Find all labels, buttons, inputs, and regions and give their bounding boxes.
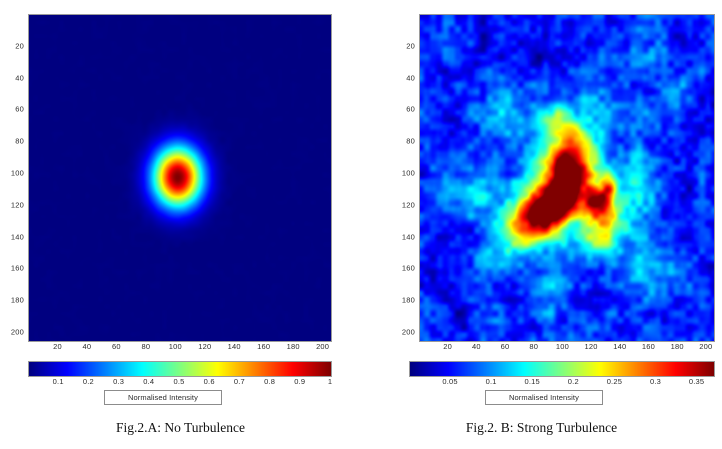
x-axis-tick-label: 20 (443, 342, 452, 351)
y-axis-tick-label: 160 (11, 264, 24, 273)
x-axis-tick-label: 40 (472, 342, 481, 351)
heatmap-panel-a (28, 14, 332, 342)
y-axis-tick-label: 20 (406, 41, 415, 50)
colorbar-tick-label: 0.9 (294, 377, 305, 386)
y-axis-tick-label: 180 (11, 296, 24, 305)
x-axis-b: 20406080100120140160180200 (419, 342, 713, 353)
colorbar-tick-label: 0.8 (264, 377, 275, 386)
y-axis-tick-label: 100 (11, 169, 24, 178)
x-axis-tick-label: 180 (287, 342, 300, 351)
colorbar-canvas-a (29, 362, 331, 376)
x-axis-tick-label: 200 (316, 342, 329, 351)
x-axis-tick-label: 180 (671, 342, 684, 351)
y-axis-tick-label: 120 (11, 200, 24, 209)
y-axis-tick-label: 200 (402, 328, 415, 337)
x-axis-tick-label: 80 (529, 342, 538, 351)
figure-root: 20406080100120140160180200 2040608010012… (0, 0, 722, 449)
colorbar-tick-label: 0.05 (442, 377, 457, 386)
y-axis-tick-label: 100 (402, 169, 415, 178)
colorbar-canvas-b (410, 362, 714, 376)
heatmap-canvas-b (420, 15, 714, 341)
figure-panel-a: 20406080100120140160180200 2040608010012… (0, 0, 361, 449)
colorbar-tick-label: 1 (328, 377, 332, 386)
x-axis-tick-label: 140 (228, 342, 241, 351)
y-axis-tick-label: 80 (406, 137, 415, 146)
colorbar-tick-label: 0.35 (689, 377, 704, 386)
y-axis-tick-label: 60 (406, 105, 415, 114)
x-axis-tick-label: 40 (83, 342, 92, 351)
figure-panel-b: 20406080100120140160180200 2040608010012… (361, 0, 722, 449)
x-axis-tick-label: 140 (613, 342, 626, 351)
colorbar-label-b: Normalised Intensity (485, 390, 603, 405)
y-axis-tick-label: 120 (402, 200, 415, 209)
colorbar-tick-label: 0.7 (234, 377, 245, 386)
colorbar-tick-label: 0.1 (53, 377, 64, 386)
y-axis-tick-label: 180 (402, 296, 415, 305)
y-axis-a: 20406080100120140160180200 (2, 14, 24, 340)
y-axis-b: 20406080100120140160180200 (393, 14, 415, 340)
heatmap-panel-b (419, 14, 715, 342)
colorbar-tick-label: 0.3 (113, 377, 124, 386)
colorbar-tick-label: 0.1 (486, 377, 497, 386)
x-axis-tick-label: 100 (556, 342, 569, 351)
heatmap-canvas-a (29, 15, 331, 341)
y-axis-tick-label: 60 (15, 105, 24, 114)
y-axis-tick-label: 200 (11, 328, 24, 337)
caption-panel-b: Fig.2. B: Strong Turbulence (361, 420, 722, 436)
colorbar-tick-label: 0.25 (607, 377, 622, 386)
x-axis-tick-label: 100 (169, 342, 182, 351)
colorbar-tick-label: 0.15 (525, 377, 540, 386)
x-axis-tick-label: 60 (112, 342, 121, 351)
y-axis-tick-label: 80 (15, 137, 24, 146)
y-axis-tick-label: 40 (406, 73, 415, 82)
colorbar-tick-label: 0.2 (568, 377, 579, 386)
y-axis-tick-label: 160 (402, 264, 415, 273)
colorbar-tick-label: 0.3 (650, 377, 661, 386)
colorbar-label-a: Normalised Intensity (104, 390, 222, 405)
colorbar-tick-label: 0.6 (204, 377, 215, 386)
y-axis-tick-label: 40 (15, 73, 24, 82)
x-axis-tick-label: 120 (198, 342, 211, 351)
x-axis-tick-label: 20 (53, 342, 62, 351)
x-axis-tick-label: 160 (257, 342, 270, 351)
x-axis-a: 20406080100120140160180200 (28, 342, 330, 353)
colorbar-tick-label: 0.2 (83, 377, 94, 386)
colorbar-panel-b (409, 361, 715, 377)
y-axis-tick-label: 140 (11, 232, 24, 241)
x-axis-tick-label: 160 (642, 342, 655, 351)
x-axis-tick-label: 80 (141, 342, 150, 351)
x-axis-tick-label: 120 (585, 342, 598, 351)
y-axis-tick-label: 140 (402, 232, 415, 241)
y-axis-tick-label: 20 (15, 41, 24, 50)
colorbar-tick-label: 0.5 (173, 377, 184, 386)
x-axis-tick-label: 200 (699, 342, 712, 351)
caption-panel-a: Fig.2.A: No Turbulence (0, 420, 361, 436)
colorbar-panel-a (28, 361, 332, 377)
colorbar-ticks-a: 0.10.20.30.40.50.60.70.80.91 (28, 377, 330, 388)
colorbar-tick-label: 0.4 (143, 377, 154, 386)
colorbar-ticks-b: 0.050.10.150.20.250.30.35 (409, 377, 713, 388)
x-axis-tick-label: 60 (501, 342, 510, 351)
